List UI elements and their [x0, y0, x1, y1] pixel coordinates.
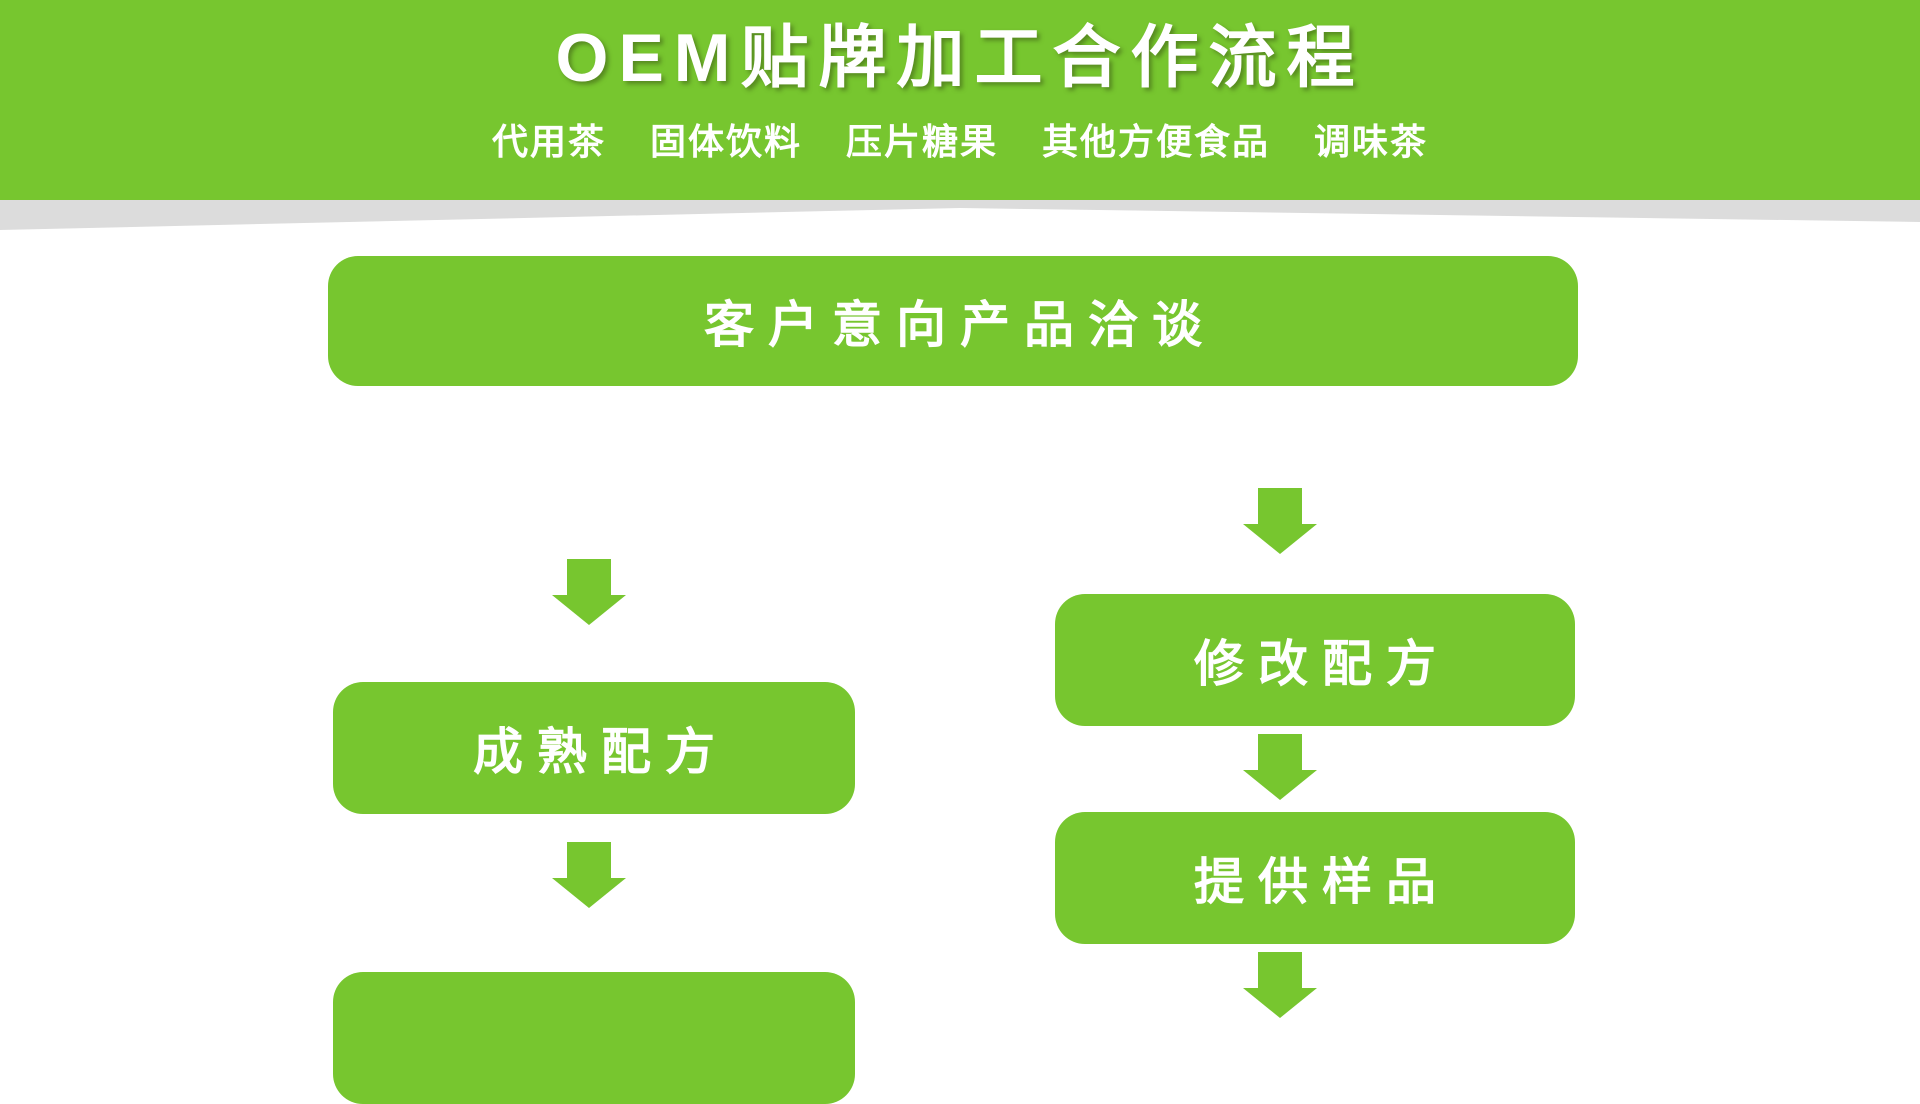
flow-node-sample: 提供样品 [1055, 812, 1575, 944]
flow-node-next-left [333, 972, 855, 1104]
arrow-shaft [567, 559, 611, 595]
flow-arrow-sample-to-next [1243, 952, 1317, 1018]
arrow-shaft [1258, 952, 1302, 988]
flow-node-mature: 成熟配方 [333, 682, 855, 814]
keyword-item-4: 调味茶 [1314, 118, 1428, 166]
flow-node-sample-label: 提供样品 [1180, 842, 1450, 914]
arrow-shaft [1258, 488, 1302, 524]
flow-arrow-mature-to-next [552, 842, 626, 908]
arrow-head [1243, 770, 1317, 800]
page-title: OEM贴牌加工合作流程 [0, 16, 1920, 100]
arrow-head [1243, 524, 1317, 554]
flow-arrow-consult-to-modify [1243, 488, 1317, 554]
flow-node-modify-label: 修改配方 [1180, 624, 1450, 696]
page-header: OEM贴牌加工合作流程 代用茶固体饮料压片糖果其他方便食品调味茶 [0, 0, 1920, 200]
arrow-head [552, 878, 626, 908]
keyword-item-2: 压片糖果 [846, 118, 998, 166]
flow-node-modify: 修改配方 [1055, 594, 1575, 726]
flow-node-consult: 客户意向产品洽谈 [328, 256, 1578, 386]
header-divider [0, 200, 1920, 232]
keyword-item-3: 其他方便食品 [1042, 118, 1270, 166]
flowchart: 客户意向产品洽谈 修改配方 成熟配方 提供样品 [0, 232, 1920, 1027]
flow-arrow-modify-to-sample [1243, 734, 1317, 800]
keyword-item-0: 代用茶 [492, 118, 606, 166]
flow-arrow-consult-to-mature [552, 559, 626, 625]
arrow-head [552, 595, 626, 625]
arrow-shaft [567, 842, 611, 878]
keyword-list: 代用茶固体饮料压片糖果其他方便食品调味茶 [0, 118, 1920, 166]
flow-node-mature-label: 成熟配方 [459, 712, 729, 784]
arrow-shaft [1258, 734, 1302, 770]
flow-node-consult-label: 客户意向产品洽谈 [690, 285, 1216, 357]
arrow-head [1243, 988, 1317, 1018]
keyword-item-1: 固体饮料 [650, 118, 802, 166]
